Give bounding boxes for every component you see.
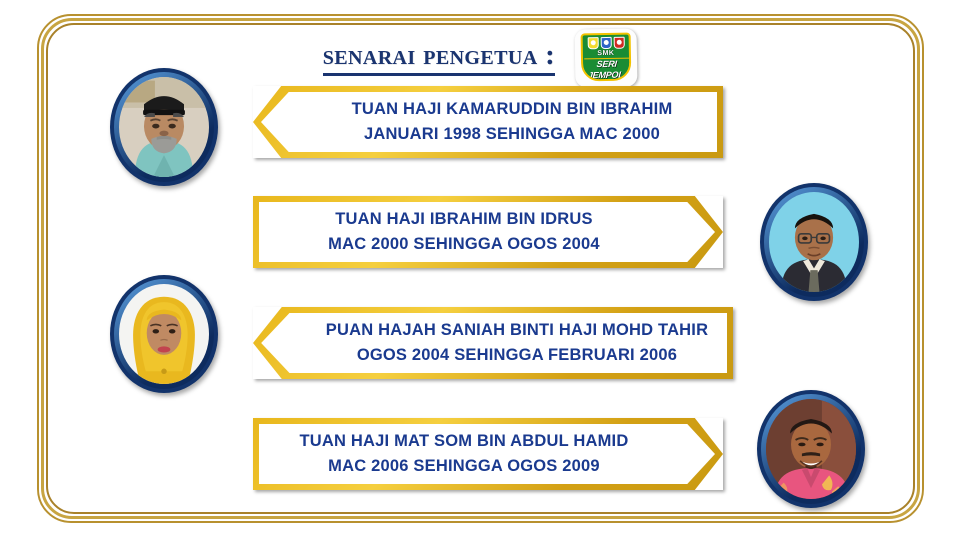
principal-name-3: PUAN HAJAH SANIAH BINTI HAJI MOHD TAHIR xyxy=(326,318,708,343)
principal-name-1: TUAN HAJI KAMARUDDIN BIN IBRAHIM xyxy=(352,97,673,122)
banner-text-1: TUAN HAJI KAMARUDDIN BIN IBRAHIM JANUARI… xyxy=(304,97,673,147)
principal-name-4: TUAN HAJI MAT SOM BIN ABDUL HAMID xyxy=(300,429,629,454)
crest-yellow-icon xyxy=(587,37,598,49)
portrait-frame-2 xyxy=(760,183,868,301)
portrait-photo-2 xyxy=(769,192,859,292)
crest-blue-icon xyxy=(600,37,611,49)
banner-text-4: TUAN HAJI MAT SOM BIN ABDUL HAMID MAC 20… xyxy=(300,429,677,479)
portrait-photo-4 xyxy=(766,399,856,499)
portrait-frame-1 xyxy=(110,68,218,186)
principal-banner-4[interactable]: TUAN HAJI MAT SOM BIN ABDUL HAMID MAC 20… xyxy=(253,418,723,490)
banner-text-3: PUAN HAJAH SANIAH BINTI HAJI MOHD TAHIR … xyxy=(278,318,708,368)
logo-shield: SMK SERI JEMPOL BERSIH BU BERBAKTI xyxy=(581,33,632,82)
crest-red-icon xyxy=(613,37,624,49)
principal-banner-1[interactable]: TUAN HAJI KAMARUDDIN BIN IBRAHIM JANUARI… xyxy=(253,86,723,158)
school-logo: SMK SERI JEMPOL BERSIH BU BERBAKTI xyxy=(575,28,638,87)
principal-banner-2[interactable]: TUAN HAJI IBRAHIM BIN IDRUS MAC 2000 SEH… xyxy=(253,196,723,268)
principal-term-2: MAC 2000 SEHINGGA OGOS 2004 xyxy=(328,232,600,257)
logo-crest-group xyxy=(583,35,629,50)
portrait-photo-1 xyxy=(119,77,209,177)
banner-text-2: TUAN HAJI IBRAHIM BIN IDRUS MAC 2000 SEH… xyxy=(328,207,648,257)
principal-term-1: JANUARI 1998 SEHINGGA MAC 2000 xyxy=(352,122,673,147)
principal-term-3: OGOS 2004 SEHINGGA FEBRUARI 2006 xyxy=(326,343,708,368)
slide-canvas: Senarai Pengetua : SMK SERI JEMPOL BERSI… xyxy=(0,0,960,540)
logo-smk-text: SMK xyxy=(583,50,629,58)
logo-school-name: SERI JEMPOL xyxy=(582,58,630,82)
principal-name-2: TUAN HAJI IBRAHIM BIN IDRUS xyxy=(328,207,600,232)
portrait-frame-4 xyxy=(757,390,865,508)
page-title: Senarai Pengetua : xyxy=(323,40,556,76)
portrait-photo-3 xyxy=(119,284,209,384)
principal-term-4: MAC 2006 SEHINGGA OGOS 2009 xyxy=(300,454,629,479)
principal-banner-3[interactable]: PUAN HAJAH SANIAH BINTI HAJI MOHD TAHIR … xyxy=(253,307,733,379)
portrait-frame-3 xyxy=(110,275,218,393)
